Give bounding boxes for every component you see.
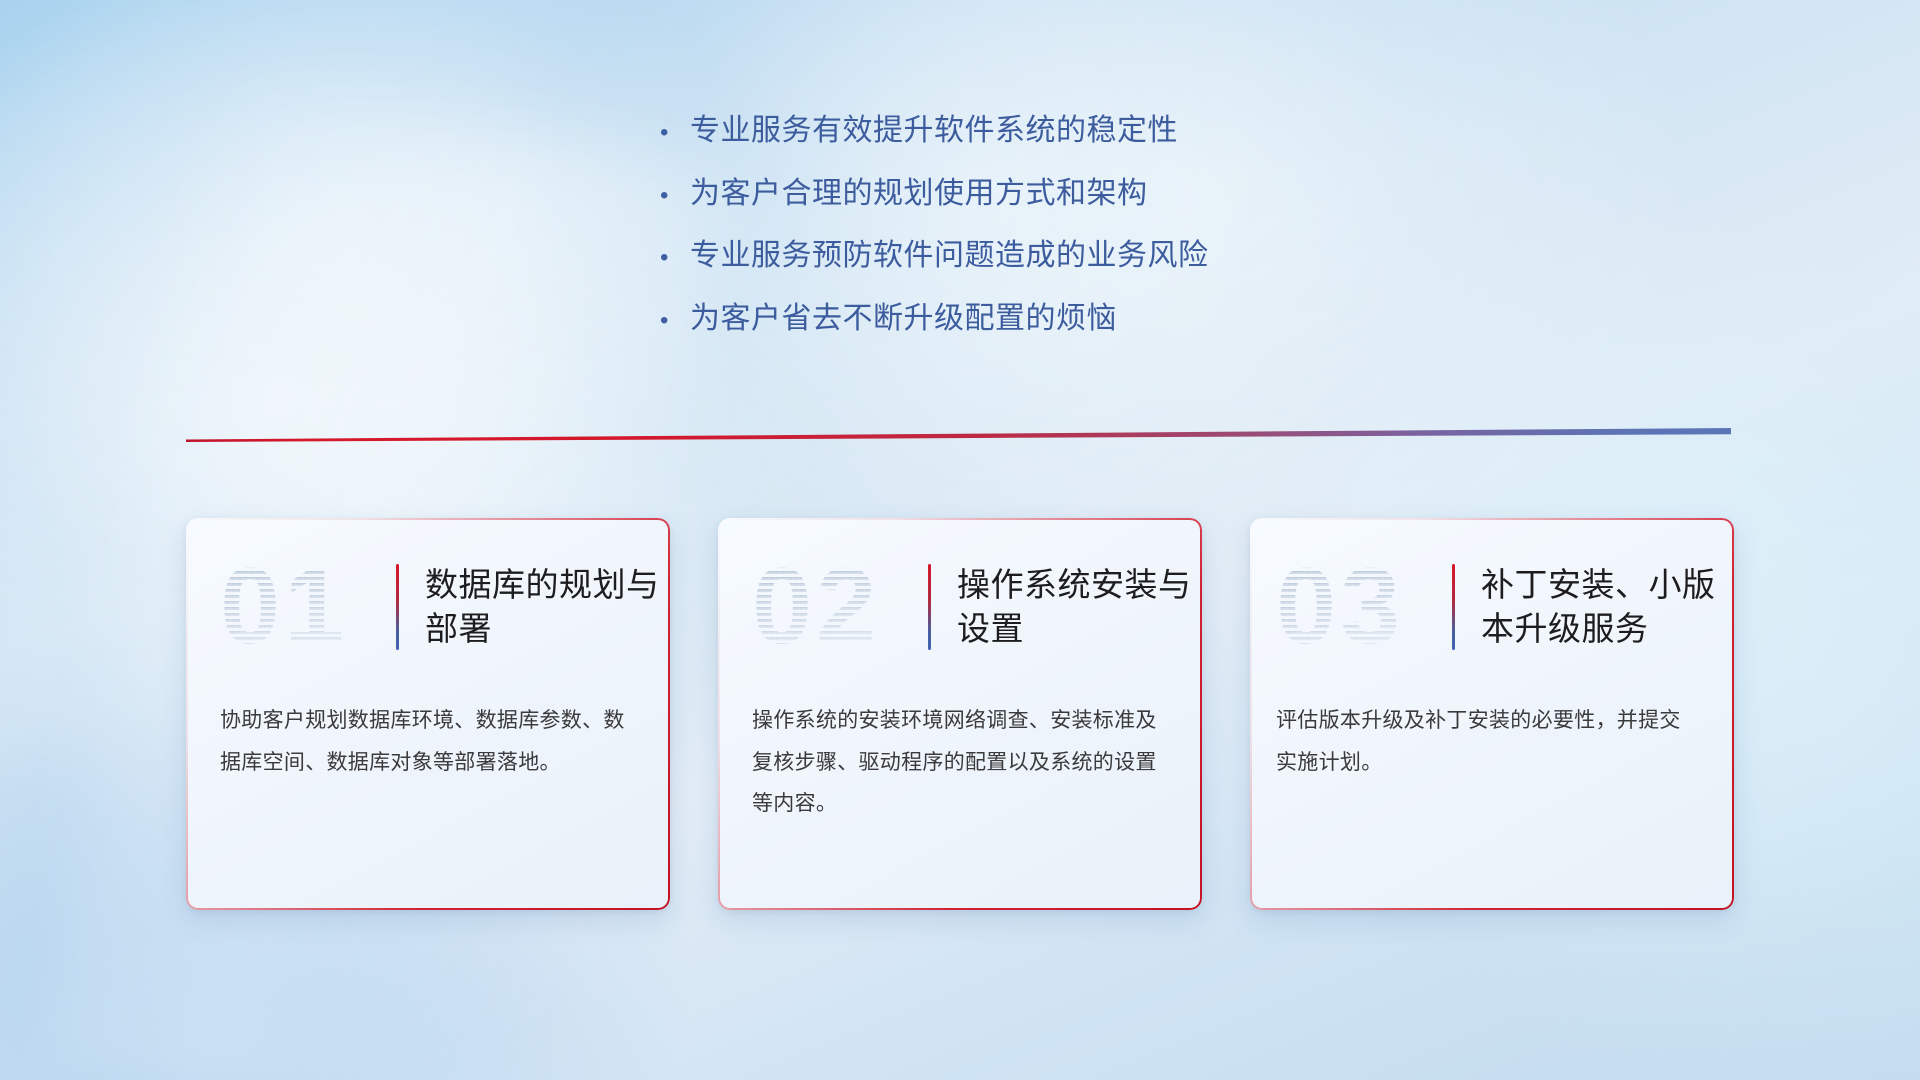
list-item: • 专业服务预防软件问题造成的业务风险 xyxy=(660,237,1560,275)
bullet-text: 为客户省去不断升级配置的烦恼 xyxy=(690,300,1117,338)
bullet-dot-icon: • xyxy=(660,184,690,208)
service-card-group: 01 数据库的规划与部署 协助客户规划数据库环境、数据库参数、数据库空间、数据库… xyxy=(186,518,1734,910)
section-divider xyxy=(186,428,1731,444)
card-number-watermark: 03 xyxy=(1276,547,1446,667)
card-description: 评估版本升级及补丁安装的必要性，并提交实施计划。 xyxy=(1250,696,1734,783)
card-title: 补丁安装、小版本升级服务 xyxy=(1481,563,1734,650)
service-card[interactable]: 03 补丁安装、小版本升级服务 评估版本升级及补丁安装的必要性，并提交实施计划。 xyxy=(1250,518,1734,910)
list-item: • 专业服务有效提升软件系统的稳定性 xyxy=(660,112,1560,150)
svg-text:02: 02 xyxy=(752,547,880,666)
card-header: 01 数据库的规划与部署 xyxy=(186,518,670,696)
bullet-dot-icon: • xyxy=(660,309,690,333)
slide-canvas: • 专业服务有效提升软件系统的稳定性 • 为客户合理的规划使用方式和架构 • 专… xyxy=(0,0,1920,1080)
card-title: 数据库的规划与部署 xyxy=(425,563,670,650)
card-accent-rule xyxy=(396,564,399,650)
card-header: 03 补丁安装、小版本升级服务 xyxy=(1250,518,1734,696)
card-number-watermark: 02 xyxy=(752,547,922,667)
bullet-text: 专业服务有效提升软件系统的稳定性 xyxy=(690,112,1178,150)
card-number-watermark: 01 xyxy=(220,547,390,667)
card-header: 02 操作系统安装与设置 xyxy=(718,518,1202,696)
card-title: 操作系统安装与设置 xyxy=(957,563,1202,650)
svg-text:01: 01 xyxy=(220,547,348,666)
service-card[interactable]: 01 数据库的规划与部署 协助客户规划数据库环境、数据库参数、数据库空间、数据库… xyxy=(186,518,670,910)
card-accent-rule xyxy=(928,564,931,650)
svg-text:03: 03 xyxy=(1276,547,1404,666)
list-item: • 为客户省去不断升级配置的烦恼 xyxy=(660,300,1560,338)
card-description: 协助客户规划数据库环境、数据库参数、数据库空间、数据库对象等部署落地。 xyxy=(186,696,670,783)
bullet-dot-icon: • xyxy=(660,246,690,270)
benefits-bullet-list: • 专业服务有效提升软件系统的稳定性 • 为客户合理的规划使用方式和架构 • 专… xyxy=(660,112,1560,362)
bullet-text: 为客户合理的规划使用方式和架构 xyxy=(690,175,1148,213)
card-description: 操作系统的安装环境网络调查、安装标准及复核步骤、驱动程序的配置以及系统的设置等内… xyxy=(718,696,1202,825)
service-card[interactable]: 02 操作系统安装与设置 操作系统的安装环境网络调查、安装标准及复核步骤、驱动程… xyxy=(718,518,1202,910)
bullet-dot-icon: • xyxy=(660,121,690,145)
card-accent-rule xyxy=(1452,564,1455,650)
list-item: • 为客户合理的规划使用方式和架构 xyxy=(660,175,1560,213)
bullet-text: 专业服务预防软件问题造成的业务风险 xyxy=(690,237,1209,275)
